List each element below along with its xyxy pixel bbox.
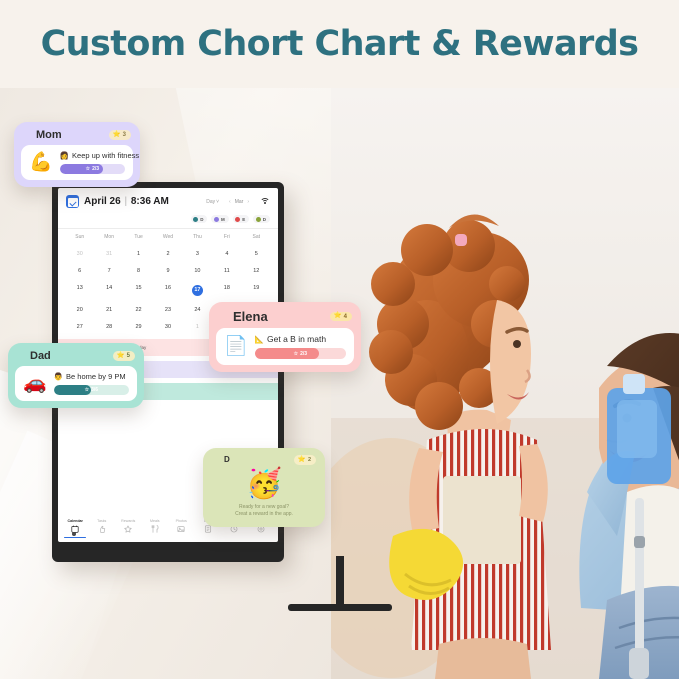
member-color-dot (212, 456, 219, 463)
goal-card-body: 💪 👩 Keep up with fitness ☆ 2/3 (21, 145, 133, 180)
photo-illustration (331, 88, 679, 679)
member-color-dot (256, 217, 261, 222)
tab-active-underline (64, 537, 86, 538)
goal-card-header: Mom ⭐ 3 (14, 122, 140, 145)
member-chip[interactable]: E (233, 215, 250, 223)
calendar-week-row: 6789101112 (65, 262, 271, 279)
status-badge: ⭐ 2 (294, 455, 316, 465)
calendar-day-cell[interactable]: 17 (183, 279, 212, 301)
reward-message-line1: Ready for a new goal? (203, 504, 325, 512)
calendar-day-cell[interactable]: 27 (65, 318, 94, 335)
calendar-day-cell[interactable]: 13 (65, 279, 94, 301)
reward-message: Ready for a new goal? Creat a reward in … (203, 504, 325, 519)
calendar-day-number: 21 (106, 307, 112, 313)
member-initial: D (200, 217, 203, 222)
calendar-day-number: 7 (108, 268, 111, 274)
calendar-day-cell[interactable]: 4 (212, 245, 241, 262)
calendar-day-cell[interactable]: 24 (183, 301, 212, 318)
member-initial: E (242, 217, 245, 222)
tab-label: Calendar (68, 519, 83, 523)
member-color-dot (218, 312, 228, 322)
member-chip[interactable]: D (191, 215, 208, 223)
member-color-dot (23, 131, 31, 139)
progress-label-wrap: ☆ 2/3 (255, 348, 346, 359)
calendar-day-cell[interactable]: 14 (94, 279, 123, 301)
calendar-day-header: Tue (124, 234, 153, 245)
progress-bar: ☆ 3/6 (54, 385, 129, 395)
member-name: Dad (30, 350, 51, 362)
tab-tasks[interactable]: Tasks (89, 519, 115, 538)
thumbs-up-icon (98, 525, 106, 533)
goal-main: 👨 Be home by 9 PM ☆ 3/6 (54, 372, 129, 395)
calendar-day-number: 10 (194, 268, 200, 274)
avatar: 👨 (54, 372, 63, 381)
time-label: 8:36 AM (131, 196, 169, 207)
tablet-stand-base (288, 604, 392, 611)
calendar-day-number: 8 (137, 268, 140, 274)
spray-bottle (607, 374, 671, 484)
date-separator: | (124, 196, 127, 207)
prev-month-button[interactable]: ‹ (229, 199, 231, 205)
calendar-day-number: 5 (255, 251, 258, 257)
member-initial: M (221, 217, 225, 222)
tab-label: Rewards (121, 519, 135, 523)
car-icon: 🚗 (23, 374, 47, 393)
star-icon: ⭐ (113, 132, 121, 139)
wifi-icon (260, 198, 270, 206)
tab-photos[interactable]: Photos (168, 519, 194, 538)
view-selector[interactable]: Day ˅ (206, 199, 219, 205)
tablet-stand-neck (336, 556, 344, 608)
tab-label: Tasks (97, 519, 106, 523)
progress-bar: ☆ 2/3 (255, 348, 346, 359)
calendar-day-cell[interactable]: 11 (212, 262, 241, 279)
calendar-day-cell[interactable]: 18 (212, 279, 241, 301)
calendar-day-number: 19 (253, 285, 259, 291)
calendar-day-cell[interactable]: 16 (153, 279, 182, 301)
chevron-down-icon: ˅ (216, 199, 219, 205)
photo-icon (177, 525, 185, 533)
calendar-day-number: 6 (78, 268, 81, 274)
calendar-day-number: 20 (77, 307, 83, 313)
progress-label: 3/6 (91, 387, 98, 393)
calendar-day-number: 17 (192, 285, 203, 296)
party-face-icon: 🥳 (203, 470, 325, 499)
calendar-day-cell[interactable]: 19 (242, 279, 271, 301)
calendar-day-number: 9 (166, 268, 169, 274)
goal-card-reward[interactable]: D ⭐ 2 🥳 Ready for a new goal? Creat a re… (203, 448, 325, 527)
calendar-day-cell[interactable]: 12 (242, 262, 271, 279)
star-icon: ⭐ (298, 457, 306, 464)
goal-card-elena[interactable]: Elena ⭐ 4 📄 📐 Get a B in math ☆ 2/3 (209, 302, 361, 372)
month-label: Mar (235, 199, 244, 205)
goal-task-row: 👨 Be home by 9 PM (54, 372, 129, 381)
calendar-day-header: Sat (242, 234, 271, 245)
member-name: Elena (233, 309, 268, 324)
progress-label-wrap: ☆ 2/3 (60, 164, 125, 174)
status-badge: ⭐ 4 (330, 312, 352, 322)
goal-card-header: Dad ⭐ 5 (8, 343, 144, 366)
utensils-icon (151, 525, 159, 533)
calendar-day-header: Fri (212, 234, 241, 245)
goal-task-label: Keep up with fitness (72, 151, 139, 160)
star-icon: ⭐ (117, 353, 125, 360)
page-title: Custom Chort Chart & Rewards (0, 24, 679, 64)
goal-task-label: Be home by 9 PM (66, 372, 126, 381)
tablet-indicator-dot (72, 532, 76, 536)
calendar-day-number: 11 (224, 268, 230, 274)
muscle-icon: 💪 (29, 153, 53, 172)
star-icon: ⭐ (334, 313, 342, 320)
member-color-dot (235, 217, 240, 222)
calendar-day-number: 24 (194, 307, 200, 313)
calendar-day-number: 29 (136, 324, 142, 330)
star-icon: ☆ (85, 387, 89, 393)
tab-label: Meals (150, 519, 160, 523)
tab-rewards[interactable]: Rewards (115, 519, 141, 538)
member-name: Mom (36, 129, 62, 141)
ruler-icon: 📐 (255, 335, 264, 344)
calendar-day-number: 16 (165, 285, 171, 291)
goal-task-label: Get a B in math (267, 334, 326, 344)
goal-task-row: 📐 Get a B in math (255, 334, 346, 344)
banner: Custom Chort Chart & Rewards (0, 0, 679, 88)
calendar-day-number: 4 (225, 251, 228, 257)
progress-label-wrap: ☆ 3/6 (54, 385, 129, 395)
star-icon: ☆ (86, 166, 90, 172)
goal-main: 📐 Get a B in math ☆ 2/3 (255, 334, 346, 359)
calendar-day-cell[interactable]: 28 (94, 318, 123, 335)
member-initial: D (263, 217, 266, 222)
calendar-day-number: 2 (166, 251, 169, 257)
app-header: April 26 | 8:36 AM Day ˅ ‹ Mar › (58, 188, 278, 212)
date-label: April 26 (84, 196, 121, 207)
status-badge: ⭐ 5 (113, 351, 135, 361)
progress-label: 2/3 (300, 351, 307, 357)
star-count: 5 (127, 353, 130, 359)
calendar-day-cell[interactable]: 2 (153, 245, 182, 262)
calendar-day-number: 30 (77, 251, 83, 257)
calendar-day-number: 12 (253, 268, 259, 274)
calendar-day-header: Sun (65, 234, 94, 245)
member-color-dot (193, 217, 198, 222)
calendar-week-row: 13141516171819 (65, 279, 271, 301)
progress-bar: ☆ 2/3 (60, 164, 125, 174)
calendar-day-number: 13 (77, 285, 83, 291)
reward-message-line2: Creat a reward in the app. (203, 511, 325, 519)
goal-card-dad[interactable]: Dad ⭐ 5 🚗 👨 Be home by 9 PM ☆ 3/6 (8, 343, 144, 408)
tab-meals[interactable]: Meals (142, 519, 168, 538)
calendar-day-cell[interactable]: 6 (65, 262, 94, 279)
member-name: D (224, 455, 230, 464)
star-icon: ☆ (294, 351, 298, 357)
calendar-day-number: 1 (196, 324, 199, 330)
calendar-day-cell[interactable]: 20 (65, 301, 94, 318)
app-date-time: April 26 | 8:36 AM (84, 196, 169, 207)
star-icon (124, 525, 132, 533)
calendar-day-headers: SunMonTueWedThuFriSat (65, 234, 271, 245)
star-count: 2 (308, 457, 311, 463)
calendar-day-number: 14 (106, 285, 112, 291)
progress-label: 2/3 (92, 166, 99, 172)
calendar-day-cell[interactable]: 22 (124, 301, 153, 318)
calendar-day-number: 27 (77, 324, 83, 330)
calendar-day-header: Mon (94, 234, 123, 245)
member-chip[interactable]: M (211, 215, 228, 223)
calendar-day-cell[interactable]: 8 (124, 262, 153, 279)
calendar-day-cell[interactable]: 9 (153, 262, 182, 279)
tab-label: Photos (176, 519, 187, 523)
calendar-day-number: 15 (136, 285, 142, 291)
calendar-icon (66, 195, 79, 208)
member-chip-list: DMED (58, 212, 278, 229)
calendar-day-cell[interactable]: 1 (183, 318, 212, 335)
page-root: Custom Chort Chart & Rewards April 26 | … (0, 0, 679, 679)
month-nav: ‹ Mar › (229, 199, 249, 205)
star-count: 4 (344, 314, 347, 320)
calendar-day-number: 31 (106, 251, 112, 257)
calendar-day-cell[interactable]: 10 (183, 262, 212, 279)
avatar: 👩 (60, 151, 69, 160)
lifestyle-photo (331, 88, 679, 679)
calendar-day-cell[interactable]: 3 (183, 245, 212, 262)
calendar-day-number: 28 (106, 324, 112, 330)
calendar-day-cell[interactable]: 31 (94, 245, 123, 262)
goal-main: 👩 Keep up with fitness ☆ 2/3 (60, 151, 125, 174)
calendar-day-number: 1 (137, 251, 140, 257)
status-badge: ⭐ 3 (109, 130, 131, 140)
goal-task-row: 👩 Keep up with fitness (60, 151, 125, 160)
document-icon: 📄 (224, 337, 248, 356)
calendar-day-number: 18 (224, 285, 230, 291)
next-month-button[interactable]: › (247, 199, 249, 205)
calendar-day-cell[interactable]: 30 (65, 245, 94, 262)
calendar-day-cell[interactable]: 15 (124, 279, 153, 301)
goal-card-header: D ⭐ 2 (203, 448, 325, 469)
calendar-day-cell[interactable]: 29 (124, 318, 153, 335)
calendar-day-number: 30 (165, 324, 171, 330)
calendar-week-row: 303112345 (65, 245, 271, 262)
calendar-day-cell[interactable]: 1 (124, 245, 153, 262)
calendar-day-header: Wed (153, 234, 182, 245)
star-count: 3 (123, 132, 126, 138)
goal-card-mom[interactable]: Mom ⭐ 3 💪 👩 Keep up with fitness ☆ 2/3 (14, 122, 140, 187)
goal-card-body: 📄 📐 Get a B in math ☆ 2/3 (216, 328, 354, 365)
calendar-day-cell[interactable]: 30 (153, 318, 182, 335)
member-color-dot (214, 217, 219, 222)
member-chip[interactable]: D (253, 215, 270, 223)
view-selector-label: Day (206, 199, 215, 205)
calendar-day-header: Thu (183, 234, 212, 245)
calendar-day-cell[interactable]: 23 (153, 301, 182, 318)
calendar-day-cell[interactable]: 5 (242, 245, 271, 262)
goal-card-header: Elena ⭐ 4 (209, 302, 361, 328)
member-color-dot (17, 352, 25, 360)
calendar-day-cell[interactable]: 21 (94, 301, 123, 318)
goal-card-body: 🚗 👨 Be home by 9 PM ☆ 3/6 (15, 366, 137, 401)
calendar-day-number: 3 (196, 251, 199, 257)
calendar-day-number: 22 (136, 307, 142, 313)
calendar-day-cell[interactable]: 7 (94, 262, 123, 279)
calendar-day-number: 23 (165, 307, 171, 313)
